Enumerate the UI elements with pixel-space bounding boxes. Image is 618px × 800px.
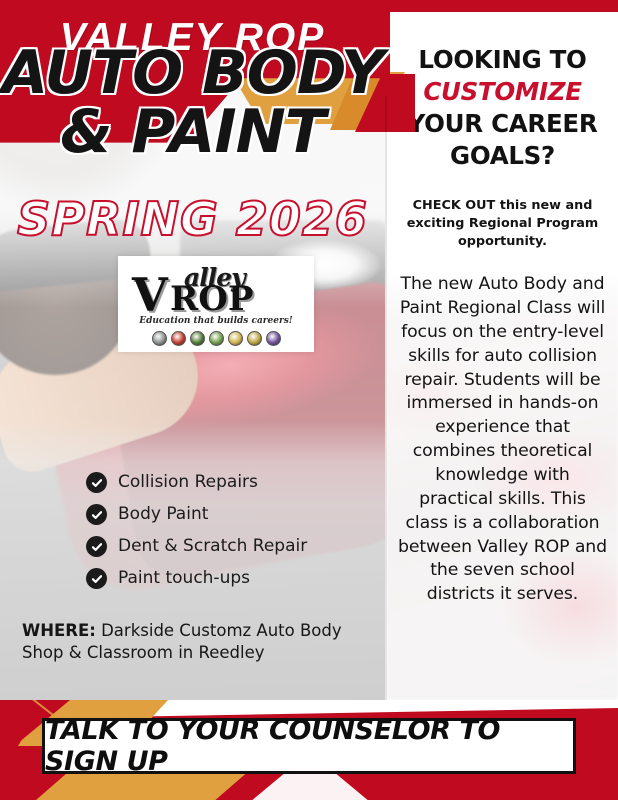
list-item-label: Body Paint xyxy=(118,505,208,524)
check-circle-icon xyxy=(86,504,107,525)
page-title: AUTO BODY & PAINT xyxy=(0,46,385,160)
list-item-label: Dent & Scratch Repair xyxy=(118,537,307,556)
right-headline: LOOKING TO CUSTOMIZE YOUR CAREER GOALS? xyxy=(397,44,608,171)
where-label: WHERE: xyxy=(22,621,96,640)
district-seal-icon xyxy=(171,331,186,346)
top-red-band xyxy=(0,0,618,12)
right-text-panel: LOOKING TO CUSTOMIZE YOUR CAREER GOALS? … xyxy=(387,12,618,700)
service-list: Collision RepairsBody PaintDent & Scratc… xyxy=(86,472,386,600)
column-divider xyxy=(385,96,387,700)
cta-label: TALK TO YOUR COUNSELOR TO SIGN UP xyxy=(45,715,573,777)
district-seal-icon xyxy=(247,331,262,346)
flyer-poster: VALLEY ROP AUTO BODY & PAINT SPRING 2026… xyxy=(0,0,618,800)
headline-accent: CUSTOMIZE xyxy=(423,77,581,106)
title-line-2: & PAINT xyxy=(0,105,385,160)
district-seal-icon xyxy=(190,331,205,346)
logo-v-letter: V xyxy=(132,268,168,322)
headline-part-1: LOOKING TO xyxy=(418,45,586,74)
list-item: Paint touch-ups xyxy=(86,568,386,589)
valley-rop-logo: alley V ROP Education that builds career… xyxy=(118,256,314,352)
check-circle-icon xyxy=(86,568,107,589)
location-block: WHERE: Darkside Customz Auto Body Shop &… xyxy=(22,620,378,664)
list-item: Body Paint xyxy=(86,504,386,525)
list-item-label: Paint touch-ups xyxy=(118,569,250,588)
list-item: Dent & Scratch Repair xyxy=(86,536,386,557)
check-circle-icon xyxy=(86,472,107,493)
headline-part-2: YOUR CAREER GOALS? xyxy=(408,109,598,170)
list-item: Collision Repairs xyxy=(86,472,386,493)
logo-rop-text: ROP xyxy=(170,279,253,319)
right-content: LOOKING TO CUSTOMIZE YOUR CAREER GOALS? … xyxy=(387,12,618,607)
district-seal-icon xyxy=(266,331,281,346)
district-seal-icon xyxy=(152,331,167,346)
right-subhead: CHECK OUT this new and exciting Regional… xyxy=(397,197,608,251)
district-seal-icon xyxy=(209,331,224,346)
cta-button[interactable]: TALK TO YOUR COUNSELOR TO SIGN UP xyxy=(42,718,576,774)
right-body-paragraph: The new Auto Body and Paint Regional Cla… xyxy=(397,273,608,607)
list-item-label: Collision Repairs xyxy=(118,473,258,492)
district-seal-icon xyxy=(228,331,243,346)
logo-wordmark: alley V ROP xyxy=(126,263,306,315)
check-circle-icon xyxy=(86,536,107,557)
term-label: SPRING 2026 xyxy=(0,192,385,246)
district-seals-row xyxy=(152,331,281,346)
footer-banner: TALK TO YOUR COUNSELOR TO SIGN UP xyxy=(0,700,618,800)
title-line-1: AUTO BODY xyxy=(0,46,385,101)
